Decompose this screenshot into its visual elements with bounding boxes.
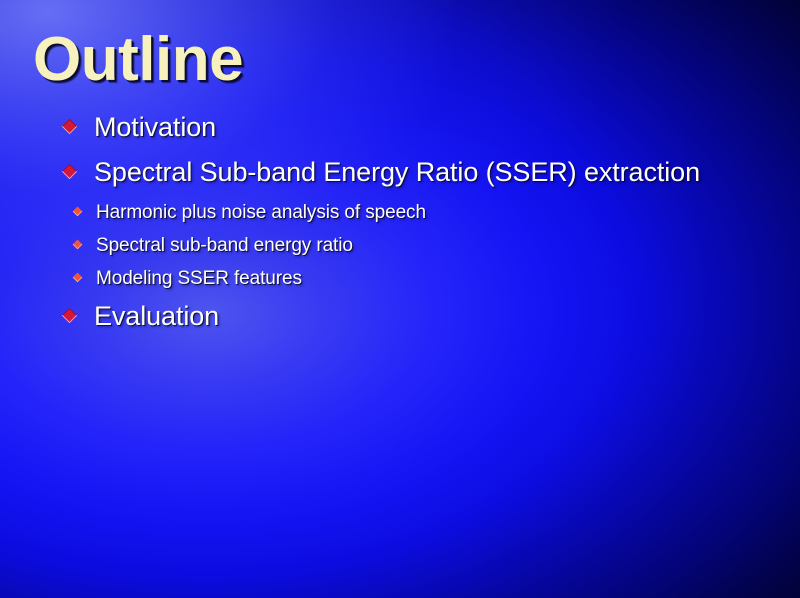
list-item-label: Evaluation [94, 301, 219, 332]
list-item-label: Spectral Sub-band Energy Ratio (SSER) ex… [94, 157, 700, 188]
list-item[interactable]: Spectral Sub-band Energy Ratio (SSER) ex… [0, 157, 800, 202]
diamond-bullet-icon [62, 308, 78, 324]
diamond-bullet-icon [62, 119, 78, 135]
outline-bullet-list: Motivation Spectral Sub-band Energy Rati… [0, 112, 800, 346]
list-item[interactable]: Motivation [0, 112, 800, 157]
list-item-label: Modeling SSER features [96, 268, 302, 290]
list-item-label: Spectral sub-band energy ratio [96, 235, 353, 257]
small-diamond-bullet-icon [73, 273, 83, 283]
list-item[interactable]: Modeling SSER features [0, 268, 800, 301]
list-item[interactable]: Evaluation [0, 301, 800, 346]
small-diamond-bullet-icon [73, 207, 83, 217]
list-item[interactable]: Spectral sub-band energy ratio [0, 235, 800, 268]
diamond-bullet-icon [62, 164, 78, 180]
list-item-label: Harmonic plus noise analysis of speech [96, 202, 426, 224]
list-item[interactable]: Harmonic plus noise analysis of speech [0, 202, 800, 235]
presentation-slide: Outline Motivation Spectral Sub-band Ene… [0, 0, 800, 598]
list-item-label: Motivation [94, 112, 216, 143]
slide-title: Outline [33, 24, 243, 95]
small-diamond-bullet-icon [73, 240, 83, 250]
